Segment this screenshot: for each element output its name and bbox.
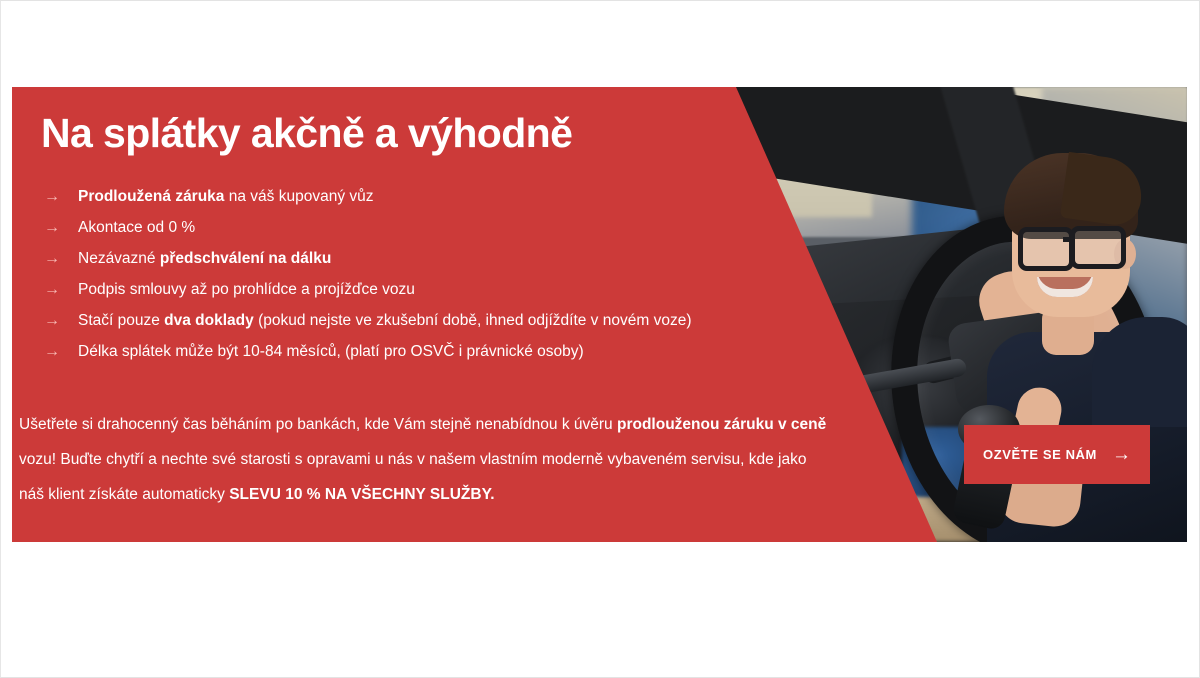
arrow-right-icon: → xyxy=(44,189,78,205)
list-item-text: Podpis smlouvy až po prohlídce a projížď… xyxy=(78,281,415,299)
list-item-rest: na váš kupovaný vůz xyxy=(224,188,373,205)
paragraph-bold1: prodlouženou záruku v ceně xyxy=(617,416,826,433)
paragraph-bold2: SLEVU 10 % NA VŠECHNY SLUŽBY. xyxy=(229,486,494,503)
photo-boy-glasses-left xyxy=(1018,227,1074,271)
list-item-bold: Prodloužená záruka xyxy=(78,188,224,205)
list-item-text: Nezávazné předschválení na dálku xyxy=(78,250,331,268)
list-item: → Podpis smlouvy až po prohlídce a projí… xyxy=(44,281,814,312)
page-title: Na splátky akčně a výhodně xyxy=(41,110,572,157)
list-item-rest: Akontace od 0 % xyxy=(78,219,195,236)
list-item-text: Délka splátek může být 10-84 měsíců, (pl… xyxy=(78,343,584,361)
photo-boy-glasses-right xyxy=(1070,226,1126,269)
arrow-right-icon: → xyxy=(44,282,78,298)
list-item: → Prodloužená záruka na váš kupovaný vůz xyxy=(44,188,814,219)
list-item: → Akontace od 0 % xyxy=(44,219,814,250)
list-item-text: Akontace od 0 % xyxy=(78,219,195,237)
list-item-bold: dva doklady xyxy=(164,312,254,329)
arrow-right-icon: → xyxy=(44,313,78,329)
list-item-text: Stačí pouze dva doklady (pokud nejste ve… xyxy=(78,312,691,330)
photo-boy-glasses-bridge xyxy=(1063,237,1073,242)
benefits-list: → Prodloužená záruka na váš kupovaný vůz… xyxy=(44,188,814,374)
contact-us-button-label: OZVĚTE SE NÁM xyxy=(983,447,1097,462)
list-item: → Stačí pouze dva doklady (pokud nejste … xyxy=(44,312,814,343)
arrow-right-icon: → xyxy=(1112,445,1131,464)
contact-us-button[interactable]: OZVĚTE SE NÁM → xyxy=(964,425,1150,484)
list-item: → Délka splátek může být 10-84 měsíců, (… xyxy=(44,343,814,374)
list-item-text: Prodloužená záruka na váš kupovaný vůz xyxy=(78,188,374,206)
arrow-right-icon: → xyxy=(44,344,78,360)
promo-paragraph: Ušetřete si drahocenný čas běháním po ba… xyxy=(19,407,829,512)
list-item-rest: Délka splátek může být 10-84 měsíců, (pl… xyxy=(78,343,584,360)
arrow-right-icon: → xyxy=(44,220,78,236)
list-item-bold: předschválení na dálku xyxy=(160,250,331,267)
list-item-rest: Nezávazné xyxy=(78,250,160,267)
page-root: Na splátky akčně a výhodně → Prodloužená… xyxy=(0,0,1200,678)
list-item-rest: Podpis smlouvy až po prohlídce a projížď… xyxy=(78,281,415,298)
promo-banner: Na splátky akčně a výhodně → Prodloužená… xyxy=(12,87,1187,542)
arrow-right-icon: → xyxy=(44,251,78,267)
photo-boy-shoulder xyxy=(1092,317,1187,427)
list-item: → Nezávazné předschválení na dálku xyxy=(44,250,814,281)
list-item-rest: Stačí pouze xyxy=(78,312,164,329)
paragraph-part1: Ušetřete si drahocenný čas běháním po ba… xyxy=(19,416,617,433)
list-item-tail: (pokud nejste ve zkušební době, ihned od… xyxy=(254,312,692,329)
